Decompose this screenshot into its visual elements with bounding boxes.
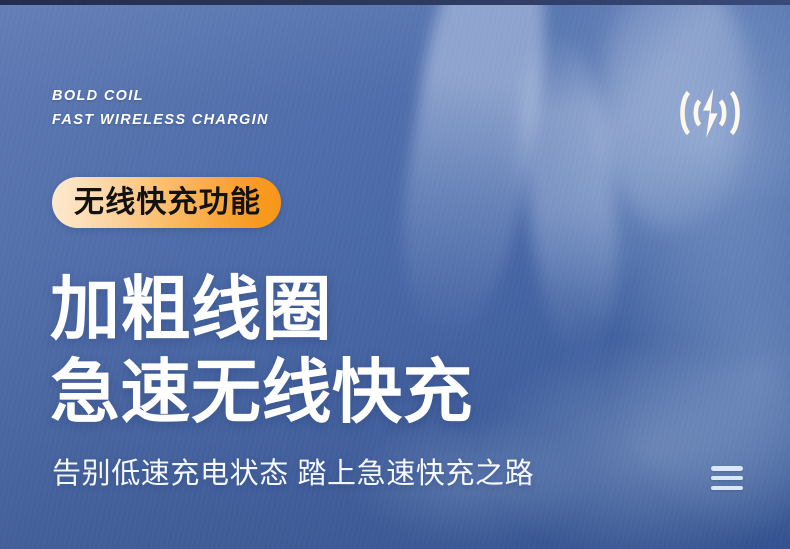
eyebrow-line-1: BOLD COIL <box>52 88 144 104</box>
subtitle: 告别低速充电状态 踏上急速快充之路 <box>52 459 534 491</box>
headline-line-2: 急速无线快充 <box>50 357 473 427</box>
headline-line-1: 加粗线圈 <box>50 274 332 344</box>
menu-bar-top <box>711 466 743 471</box>
feature-badge-label: 无线快充功能 <box>74 188 261 218</box>
wireless-charging-icon <box>676 86 744 140</box>
promo-banner: BOLD COIL FAST WIRELESS CHARGIN 无线快充功能 加… <box>0 0 790 549</box>
hamburger-menu-icon[interactable] <box>711 466 743 490</box>
menu-bar-middle <box>711 476 743 481</box>
feature-badge: 无线快充功能 <box>52 177 281 228</box>
menu-bar-bottom <box>711 486 743 491</box>
eyebrow-line-2: FAST WIRELESS CHARGIN <box>52 112 269 128</box>
banner-content: BOLD COIL FAST WIRELESS CHARGIN 无线快充功能 加… <box>0 0 790 549</box>
